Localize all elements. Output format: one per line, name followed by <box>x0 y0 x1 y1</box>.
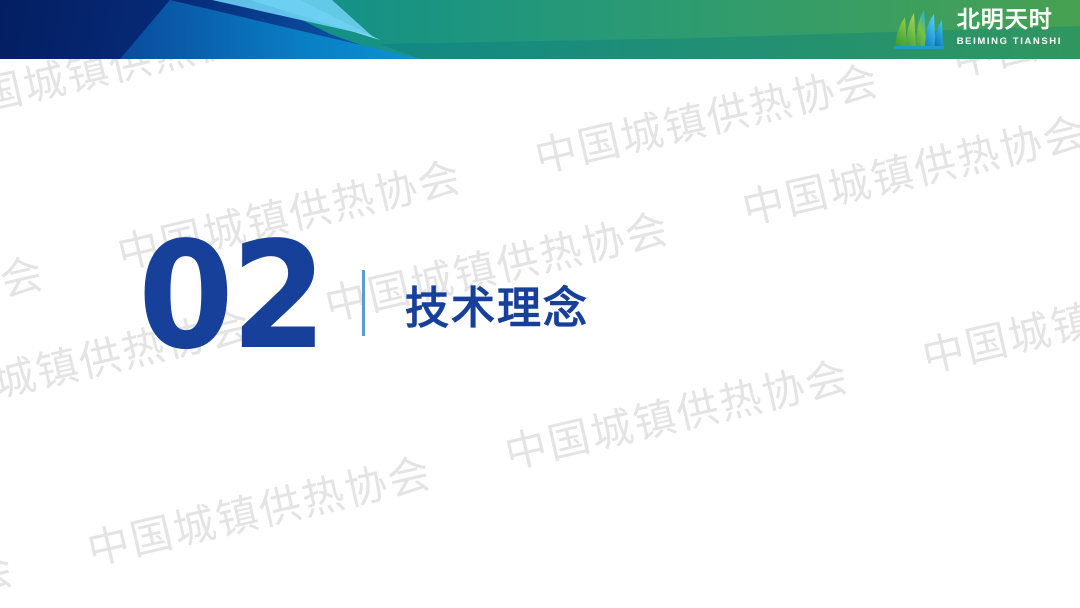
section-title: 技术理念 <box>405 272 589 336</box>
section-number: 02 <box>138 236 324 357</box>
watermark-text: 中国城镇供热协会 <box>0 240 50 379</box>
section-heading-group: 02 技术理念 <box>138 236 589 357</box>
logo-wordmark: 北明天时 BEIMING TIANSHI <box>957 9 1062 47</box>
watermark-text: 中国城镇供热协会 <box>0 536 20 608</box>
logo-mark-icon <box>889 6 947 50</box>
header-banner: 北明天时 BEIMING TIANSHI <box>0 0 1080 59</box>
logo-name-en: BEIMING TIANSHI <box>957 37 1062 47</box>
watermark-text: 中国城镇供热协会 <box>916 246 1080 385</box>
logo-name-cn: 北明天时 <box>957 9 1062 32</box>
watermark-text: 中国城镇供热协会 <box>498 343 855 482</box>
watermark-text: 中国城镇供热协会 <box>81 439 438 578</box>
slide-canvas: 中国城镇供热协会 中国城镇供热协会 中国城镇供热协会 中国城镇供热协会 中国城镇… <box>0 0 1080 608</box>
brand-logo: 北明天时 BEIMING TIANSHI <box>889 6 1062 50</box>
watermark-text: 中国城镇供热协会 <box>528 47 885 186</box>
section-divider-bar <box>362 270 365 336</box>
watermark-text: 中国城镇供热协会 <box>736 98 1080 237</box>
